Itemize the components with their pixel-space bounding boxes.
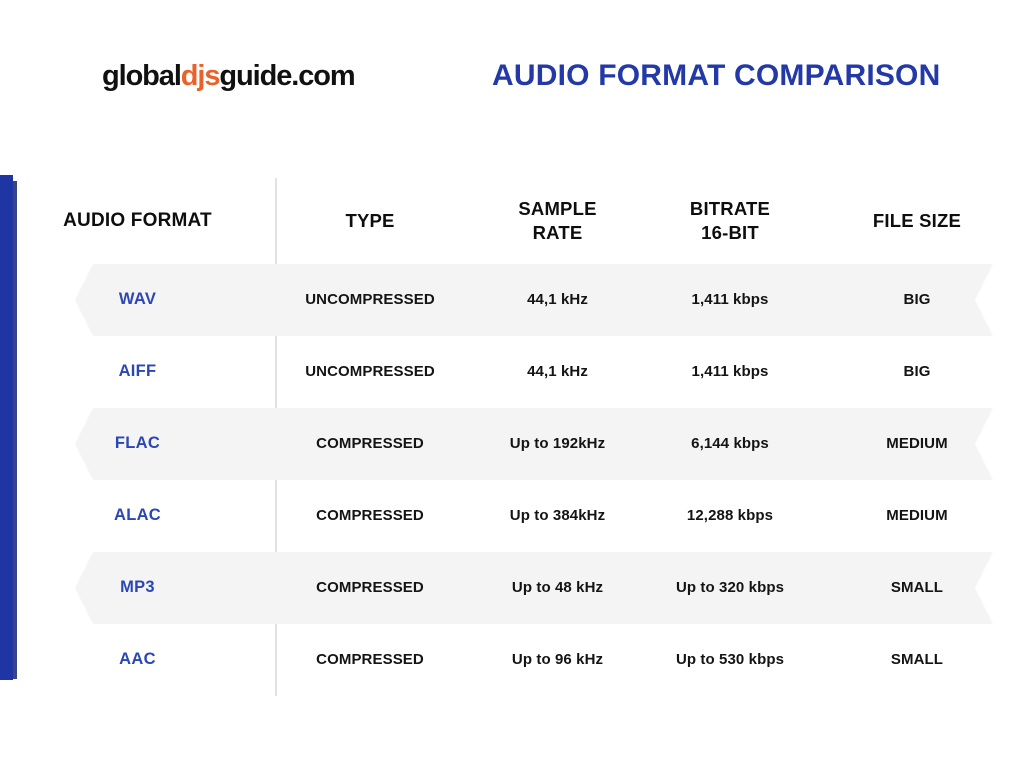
cell-bitrate-text: 1,411 kbps: [692, 291, 769, 308]
cell-audio-format: FLAC: [0, 433, 275, 454]
logo-text-suffix: guide.com: [219, 60, 354, 92]
cell-sample-rate: Up to 48 kHz: [465, 578, 650, 598]
cell-bitrate: 1,411 kbps: [650, 290, 810, 310]
cell-file-size-text: BIG: [904, 363, 931, 380]
cell-audio-format-text: ALAC: [114, 506, 161, 524]
cell-audio-format-text: FLAC: [115, 434, 160, 452]
cell-sample-rate-text: Up to 192kHz: [510, 435, 605, 452]
cell-sample-rate: 44,1 kHz: [465, 290, 650, 310]
table-row: ALACCOMPRESSEDUp to 384kHz12,288 kbpsMED…: [0, 480, 1024, 552]
cell-type: COMPRESSED: [275, 434, 465, 454]
comparison-table: AUDIO FORMAT TYPE SAMPLE RATE BITRATE 16…: [0, 178, 1024, 696]
table-header-row: AUDIO FORMAT TYPE SAMPLE RATE BITRATE 16…: [0, 178, 1024, 264]
cell-sample-rate-text: Up to 96 kHz: [512, 651, 603, 668]
cell-audio-format-text: WAV: [119, 290, 156, 308]
cell-bitrate: 1,411 kbps: [650, 362, 810, 382]
cell-sample-rate-text: 44,1 kHz: [527, 363, 588, 380]
logo-text-prefix: global: [102, 60, 181, 92]
cell-sample-rate: Up to 96 kHz: [465, 650, 650, 670]
table-row: WAVUNCOMPRESSED44,1 kHz1,411 kbpsBIG: [0, 264, 1024, 336]
table-row: AIFFUNCOMPRESSED44,1 kHz1,411 kbpsBIG: [0, 336, 1024, 408]
cell-type-text: COMPRESSED: [316, 507, 424, 524]
cell-file-size: BIG: [810, 290, 1024, 310]
cell-sample-rate-text: Up to 48 kHz: [512, 579, 603, 596]
cell-bitrate-text: Up to 530 kbps: [676, 651, 784, 668]
column-header-audio-format: AUDIO FORMAT: [0, 209, 275, 233]
page-header: globaldjsguide.com AUDIO FORMAT COMPARIS…: [0, 0, 1024, 150]
cell-audio-format-text: AAC: [119, 650, 156, 668]
cell-bitrate: Up to 320 kbps: [650, 578, 810, 598]
cell-bitrate: 12,288 kbps: [650, 506, 810, 526]
cell-bitrate-text: Up to 320 kbps: [676, 579, 784, 596]
cell-audio-format: WAV: [0, 289, 275, 310]
column-header-bitrate-line1: BITRATE: [656, 197, 804, 221]
cell-sample-rate-text: 44,1 kHz: [527, 291, 588, 308]
cell-sample-rate-text: Up to 384kHz: [510, 507, 605, 524]
page-title: AUDIO FORMAT COMPARISON: [492, 59, 940, 93]
column-header-type: TYPE: [275, 209, 465, 233]
column-header-bitrate: BITRATE 16-BIT: [650, 197, 810, 244]
column-header-sample-rate-line2: RATE: [471, 221, 644, 245]
cell-type: COMPRESSED: [275, 506, 465, 526]
cell-sample-rate: Up to 384kHz: [465, 506, 650, 526]
table-row: AACCOMPRESSEDUp to 96 kHzUp to 530 kbpsS…: [0, 624, 1024, 696]
column-header-sample-rate: SAMPLE RATE: [465, 197, 650, 244]
cell-type: UNCOMPRESSED: [275, 290, 465, 310]
cell-sample-rate: 44,1 kHz: [465, 362, 650, 382]
logo-text-accent: djs: [181, 60, 220, 92]
cell-audio-format-text: AIFF: [119, 362, 157, 380]
cell-file-size: MEDIUM: [810, 506, 1024, 526]
cell-type-text: COMPRESSED: [316, 651, 424, 668]
cell-file-size-text: SMALL: [891, 579, 943, 596]
cell-file-size: SMALL: [810, 650, 1024, 670]
cell-file-size-text: MEDIUM: [886, 435, 947, 452]
cell-file-size: MEDIUM: [810, 434, 1024, 454]
cell-bitrate: Up to 530 kbps: [650, 650, 810, 670]
cell-bitrate: 6,144 kbps: [650, 434, 810, 454]
table-row: FLACCOMPRESSEDUp to 192kHz6,144 kbpsMEDI…: [0, 408, 1024, 480]
cell-audio-format: AAC: [0, 649, 275, 670]
cell-audio-format-text: MP3: [120, 578, 155, 596]
cell-audio-format: MP3: [0, 577, 275, 598]
cell-type: UNCOMPRESSED: [275, 362, 465, 382]
cell-sample-rate: Up to 192kHz: [465, 434, 650, 454]
cell-file-size-text: SMALL: [891, 651, 943, 668]
cell-type-text: UNCOMPRESSED: [305, 291, 435, 308]
cell-file-size: SMALL: [810, 578, 1024, 598]
column-header-file-size: FILE SIZE: [810, 209, 1024, 233]
cell-type-text: COMPRESSED: [316, 435, 424, 452]
cell-type-text: COMPRESSED: [316, 579, 424, 596]
cell-bitrate-text: 6,144 kbps: [691, 435, 769, 452]
cell-file-size: BIG: [810, 362, 1024, 382]
cell-type: COMPRESSED: [275, 578, 465, 598]
column-header-sample-rate-line1: SAMPLE: [471, 197, 644, 221]
cell-type-text: UNCOMPRESSED: [305, 363, 435, 380]
table-row: MP3COMPRESSEDUp to 48 kHzUp to 320 kbpsS…: [0, 552, 1024, 624]
cell-audio-format: AIFF: [0, 361, 275, 382]
table-body: WAVUNCOMPRESSED44,1 kHz1,411 kbpsBIGAIFF…: [0, 264, 1024, 696]
cell-bitrate-text: 1,411 kbps: [692, 363, 769, 380]
cell-type: COMPRESSED: [275, 650, 465, 670]
cell-file-size-text: MEDIUM: [886, 507, 947, 524]
site-logo: globaldjsguide.com: [102, 60, 355, 93]
cell-bitrate-text: 12,288 kbps: [687, 507, 773, 524]
column-header-bitrate-line2: 16-BIT: [656, 221, 804, 245]
cell-file-size-text: BIG: [904, 291, 931, 308]
cell-audio-format: ALAC: [0, 505, 275, 526]
